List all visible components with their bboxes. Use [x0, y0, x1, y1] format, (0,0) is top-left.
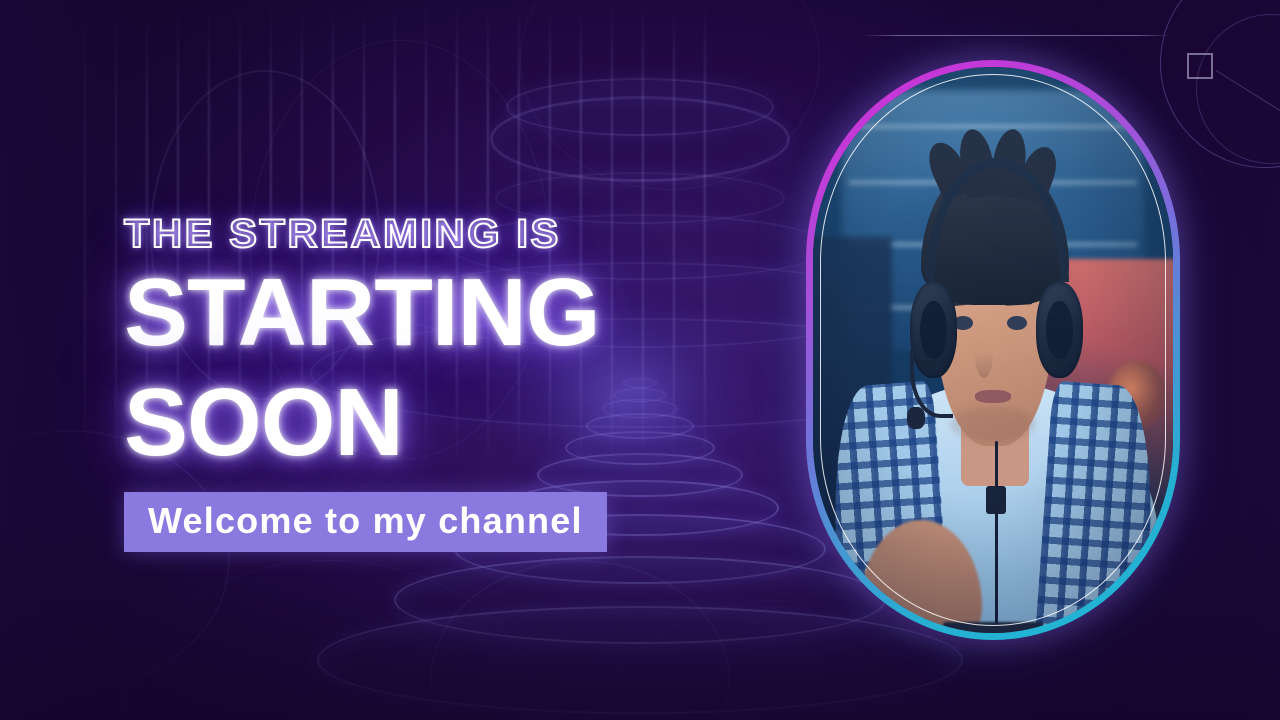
- tunnel-ring: [490, 96, 790, 182]
- hud-horizontal-line: [862, 35, 1172, 36]
- streamer-photo: [813, 67, 1173, 633]
- welcome-banner: Welcome to my channel: [124, 492, 607, 552]
- streamer-photo-frame: [806, 60, 1180, 640]
- photo-scene: [813, 67, 1173, 633]
- headline-line-2: SOON: [124, 376, 724, 470]
- hud-square-icon: [1187, 53, 1213, 79]
- photo-vignette: [813, 67, 1173, 633]
- eyebrow-text: THE STREAMING IS: [124, 214, 748, 254]
- tunnel-ring: [506, 78, 774, 136]
- title-block: THE STREAMING IS STARTING SOON Welcome t…: [124, 214, 724, 552]
- stream-overlay-canvas: THE STREAMING IS STARTING SOON Welcome t…: [0, 0, 1280, 720]
- headline: STARTING SOON: [124, 266, 724, 470]
- headline-line-1: STARTING: [124, 259, 600, 366]
- welcome-banner-text: Welcome to my channel: [148, 502, 583, 540]
